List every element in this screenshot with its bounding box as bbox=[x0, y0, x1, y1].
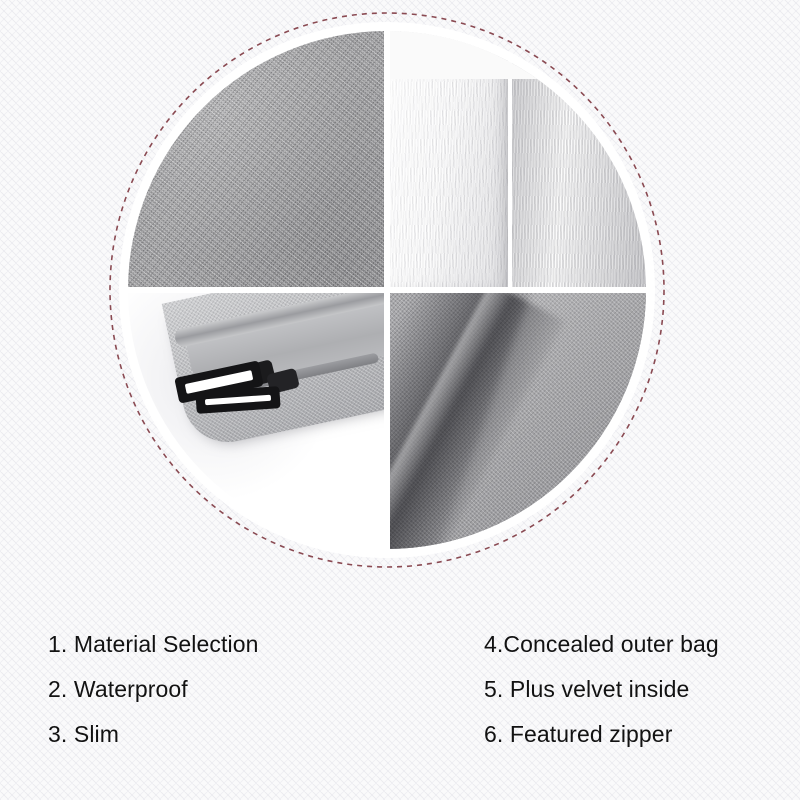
list-item: 2. Waterproof bbox=[48, 667, 258, 712]
quadrant-material-selection[interactable] bbox=[128, 31, 384, 287]
list-item: 1. Material Selection bbox=[48, 622, 258, 667]
folded-grey-fabric-icon bbox=[390, 293, 646, 549]
caption-column-left: 1. Material Selection 2. Waterproof 3. S… bbox=[48, 622, 258, 757]
zipper-pulls-icon bbox=[128, 293, 384, 549]
white-velvet-lining-icon bbox=[390, 31, 646, 287]
list-item: 6. Featured zipper bbox=[484, 712, 719, 757]
quadrant-divider-horizontal bbox=[128, 287, 646, 293]
velvet-top-fade bbox=[390, 31, 646, 79]
list-item: 3. Slim bbox=[48, 712, 258, 757]
quadrant-featured-zipper[interactable] bbox=[128, 293, 384, 549]
list-item: 4.Concealed outer bag bbox=[484, 622, 719, 667]
quadrant-slim-fold[interactable] bbox=[390, 293, 646, 549]
quadrant-velvet-lining[interactable] bbox=[390, 31, 646, 287]
product-feature-circle bbox=[108, 11, 666, 569]
list-item: 5. Plus velvet inside bbox=[484, 667, 719, 712]
woven-linen-fabric-icon bbox=[128, 31, 384, 287]
caption-column-right: 4.Concealed outer bag 5. Plus velvet ins… bbox=[484, 622, 719, 757]
quadrant-photo-disc bbox=[128, 31, 646, 549]
feature-caption-list: 1. Material Selection 2. Waterproof 3. S… bbox=[0, 622, 800, 800]
